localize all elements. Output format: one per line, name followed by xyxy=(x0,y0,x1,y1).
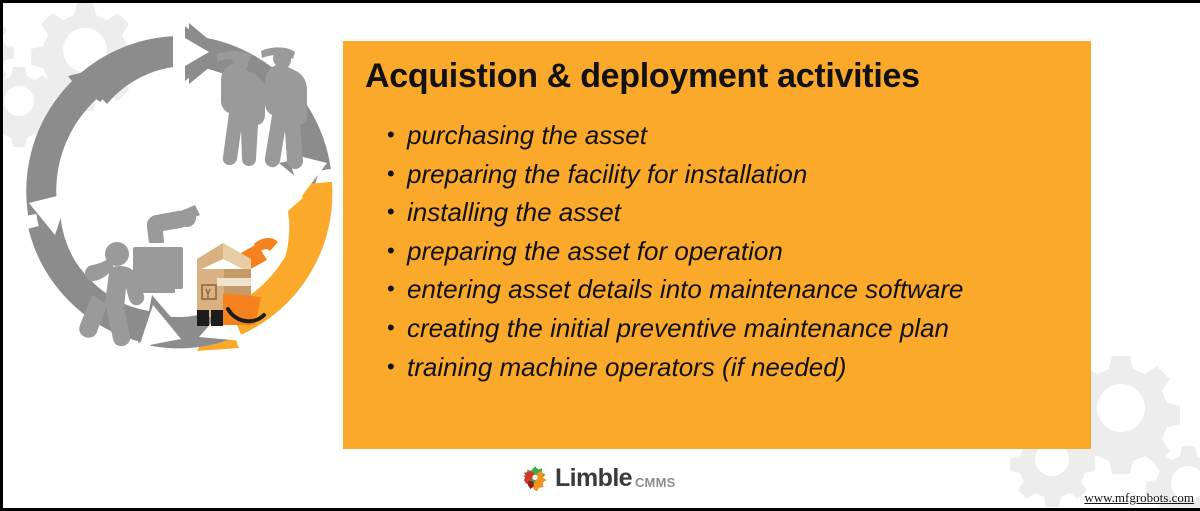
list-item: preparing the asset for operation xyxy=(387,232,1081,271)
activities-panel: Acquistion & deployment activities purch… xyxy=(343,41,1091,449)
lifecycle-ring-graphic xyxy=(21,21,341,351)
limble-logo: Limble CMMS xyxy=(522,465,676,491)
infographic-canvas: Acquistion & deployment activities purch… xyxy=(0,0,1200,511)
list-item: preparing the facility for installation xyxy=(387,155,1081,194)
list-item: installing the asset xyxy=(387,193,1081,232)
list-item: training machine operators (if needed) xyxy=(387,348,1081,387)
list-item: purchasing the asset xyxy=(387,116,1081,155)
activities-bullet-list: purchasing the asset preparing the facil… xyxy=(387,116,1081,386)
logo-suffix: CMMS xyxy=(635,476,676,491)
asset-lifecycle-diagram xyxy=(21,21,341,351)
source-watermark: www.mfgrobots.com xyxy=(1084,490,1194,506)
list-item: entering asset details into maintenance … xyxy=(387,270,1081,309)
panel-title: Acquistion & deployment activities xyxy=(365,57,920,96)
logo-wordmark: Limble xyxy=(555,466,632,491)
limble-gear-icon xyxy=(522,465,548,491)
list-item: creating the initial preventive maintena… xyxy=(387,309,1081,348)
